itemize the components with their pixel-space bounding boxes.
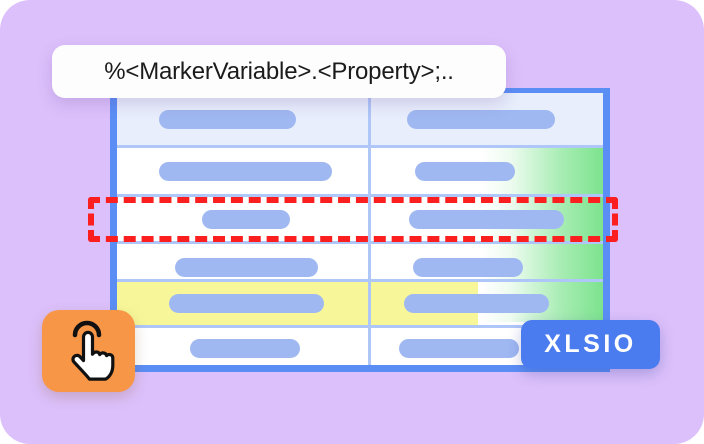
header-cell-2 (371, 93, 603, 145)
click-cursor-button[interactable] (42, 310, 135, 392)
placeholder-pill (407, 110, 555, 129)
xlsio-badge: XLSIO (521, 320, 660, 369)
illustration-stage: %<MarkerVariable>.<Property>;.. XLSIO (0, 0, 704, 444)
dashed-row-selection[interactable] (88, 197, 618, 242)
table-row (117, 282, 603, 325)
marker-syntax-tooltip: %<MarkerVariable>.<Property>;.. (52, 45, 506, 98)
pointing-hand-click-icon (61, 320, 117, 382)
placeholder-pill (169, 294, 324, 313)
placeholder-pill (175, 258, 318, 277)
table-header-row (117, 93, 603, 145)
row1-cell-2 (371, 148, 603, 194)
xlsio-badge-label: XLSIO (544, 330, 637, 359)
placeholder-pill (413, 258, 523, 277)
placeholder-pill (159, 110, 296, 129)
placeholder-pill (190, 339, 300, 358)
placeholder-pill (159, 162, 332, 181)
row4-cell-1 (117, 282, 371, 325)
header-cell-1 (117, 93, 371, 145)
row4-cell-2 (371, 282, 603, 325)
row1-cell-1 (117, 148, 371, 194)
placeholder-pill (399, 339, 519, 358)
table-row (117, 148, 603, 194)
placeholder-pill (404, 294, 549, 313)
row5-cell-1 (117, 328, 371, 368)
tooltip-text: %<MarkerVariable>.<Property>;.. (104, 58, 454, 86)
placeholder-pill (415, 162, 515, 181)
